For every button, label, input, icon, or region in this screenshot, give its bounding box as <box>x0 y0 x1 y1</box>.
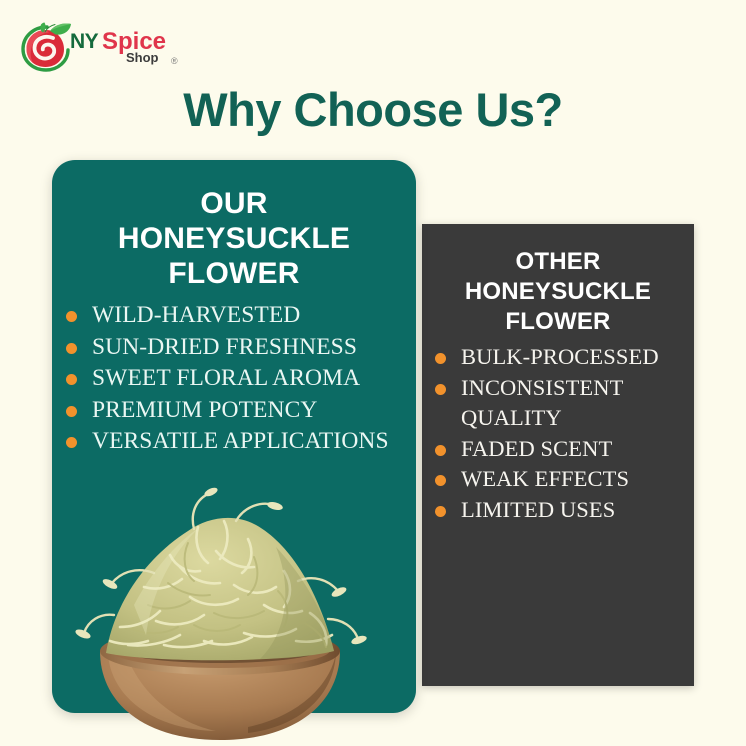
list-item: SWEET FLORAL AROMA <box>61 363 416 395</box>
list-item-label: WEAK EFFECTS <box>461 466 629 491</box>
list-item-label: LIMITED USES <box>461 497 615 522</box>
our-product-panel-title: OUR HONEYSUCKLE FLOWER <box>52 186 416 291</box>
apple-chili-spiral-logo-icon <box>20 22 74 72</box>
list-item: PREMIUM POTENCY <box>61 395 416 427</box>
list-item: INCONSISTENT QUALITY <box>430 373 694 434</box>
our-title-line-2: HONEYSUCKLE <box>52 221 416 256</box>
competitor-panel: OTHER HONEYSUCKLE FLOWER BULK-PROCESSED … <box>422 224 694 686</box>
competitor-title-line-1: OTHER <box>422 247 694 277</box>
bullet-dot-icon <box>66 343 77 354</box>
competitor-title-line-2: HONEYSUCKLE <box>422 277 694 307</box>
our-product-panel: OUR HONEYSUCKLE FLOWER WILD-HARVESTED SU… <box>52 160 416 713</box>
competitor-panel-title: OTHER HONEYSUCKLE FLOWER <box>422 247 694 337</box>
list-item-label: SUN-DRIED FRESHNESS <box>92 334 357 360</box>
list-item: FADED SCENT <box>430 434 694 465</box>
list-item: SUN-DRIED FRESHNESS <box>61 332 416 364</box>
list-item-label: PREMIUM POTENCY <box>92 397 317 423</box>
page-title: Why Choose Us? <box>0 82 746 137</box>
list-item: WEAK EFFECTS <box>430 464 694 495</box>
list-item: LIMITED USES <box>430 495 694 526</box>
our-title-line-1: OUR <box>52 186 416 221</box>
bullet-dot-icon <box>435 506 446 517</box>
list-item: BULK-PROCESSED <box>430 342 694 373</box>
list-item-label: BULK-PROCESSED <box>461 344 659 369</box>
bullet-dot-icon <box>66 311 77 322</box>
list-item: WILD-HARVESTED <box>61 300 416 332</box>
bullet-dot-icon <box>435 445 446 456</box>
bullet-dot-icon <box>66 374 77 385</box>
bullet-dot-icon <box>66 437 77 448</box>
brand-wordmark: NY Spice Shop ® <box>70 30 210 74</box>
promo-graphic: NY Spice Shop ® Why Choose Us? OTHER HON… <box>0 0 746 746</box>
brand-logo[interactable]: NY Spice Shop ® <box>18 18 208 76</box>
brand-name-shop: Shop <box>126 50 159 65</box>
list-item: VERSATILE APPLICATIONS <box>61 426 416 458</box>
bullet-dot-icon <box>435 384 446 395</box>
competitor-feature-list: BULK-PROCESSED INCONSISTENT QUALITY FADE… <box>430 342 694 525</box>
bullet-dot-icon <box>435 353 446 364</box>
our-feature-list: WILD-HARVESTED SUN-DRIED FRESHNESS SWEET… <box>61 300 416 458</box>
list-item-label: VERSATILE APPLICATIONS <box>92 428 389 454</box>
registered-trademark-icon: ® <box>171 56 178 66</box>
list-item-label: FADED SCENT <box>461 436 612 461</box>
list-item-label: SWEET FLORAL AROMA <box>92 365 360 391</box>
our-title-line-3: FLOWER <box>52 256 416 291</box>
list-item-label: WILD-HARVESTED <box>92 302 300 328</box>
bullet-dot-icon <box>435 475 446 486</box>
bullet-dot-icon <box>66 406 77 417</box>
competitor-title-line-3: FLOWER <box>422 307 694 337</box>
brand-name-ny: NY <box>70 30 98 54</box>
our-product-panel-surface: OUR HONEYSUCKLE FLOWER WILD-HARVESTED SU… <box>52 160 416 713</box>
list-item-label: INCONSISTENT QUALITY <box>461 375 623 431</box>
